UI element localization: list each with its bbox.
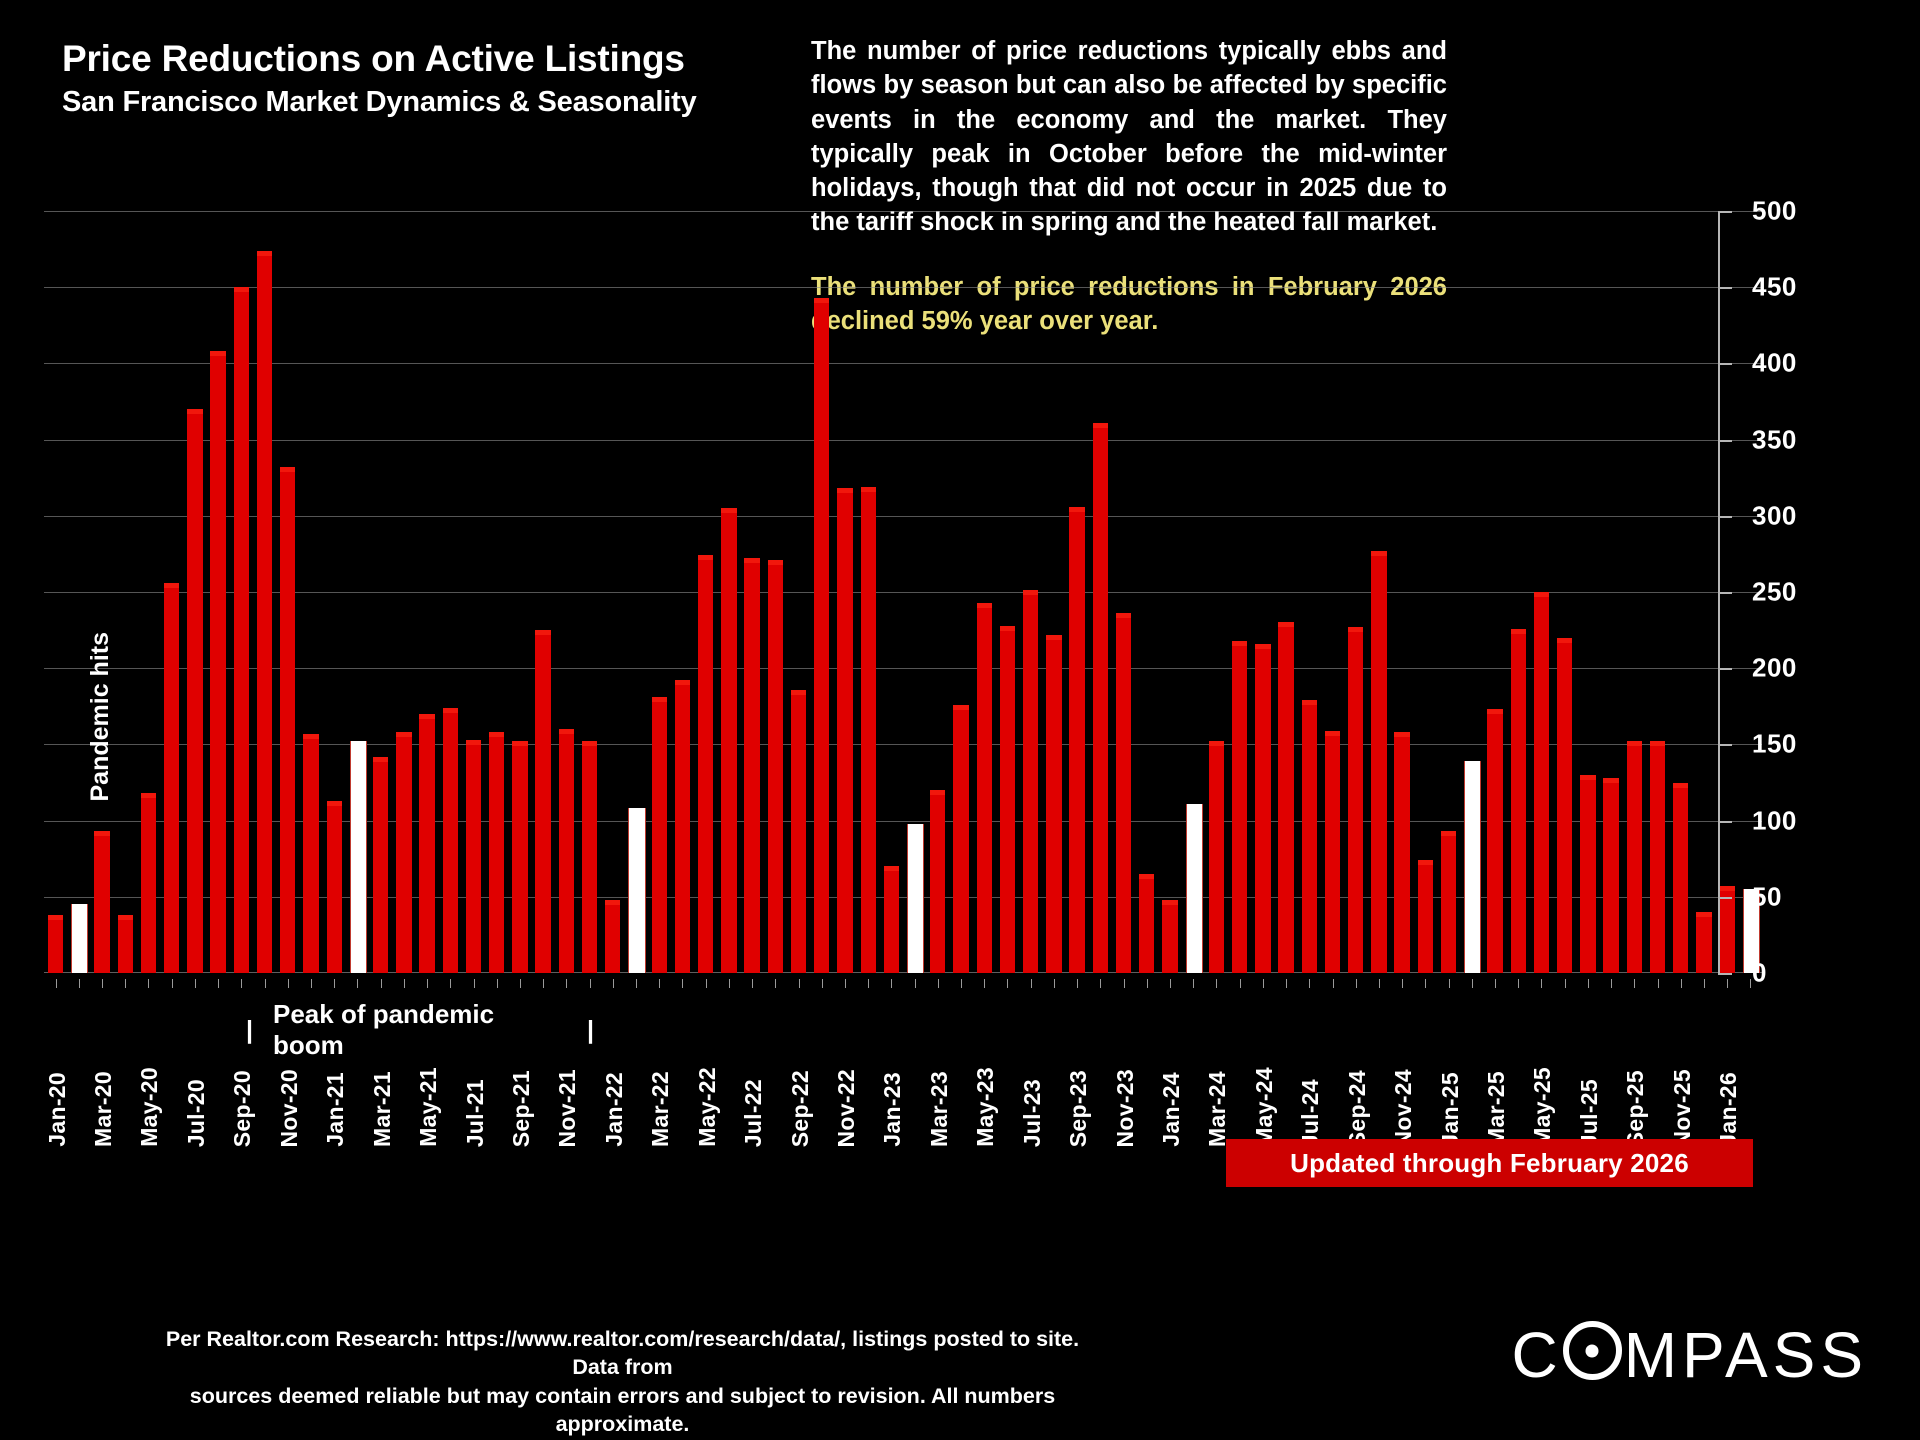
bar-may-24: [1255, 644, 1270, 973]
x-axis-tick-label: May-23: [972, 1067, 999, 1147]
y-axis-tick: [1718, 592, 1732, 594]
updated-through-text: Updated through February 2026: [1290, 1148, 1689, 1179]
bar-cap: [1511, 629, 1526, 634]
x-axis-tick: [1077, 979, 1078, 988]
bar-jun-23: [1000, 626, 1015, 973]
x-axis-tick: [682, 979, 683, 988]
y-axis-tick-label: 150: [1752, 729, 1797, 760]
bar-cap: [768, 560, 783, 565]
bar-nov-22: [837, 488, 852, 973]
bar-dec-23: [1139, 874, 1154, 973]
bar-cap: [164, 583, 179, 588]
x-axis-tick-label: Mar-25: [1483, 1071, 1510, 1147]
bar-cap: [466, 740, 481, 745]
bar-oct-23: [1093, 423, 1108, 973]
x-axis-tick: [1634, 979, 1635, 988]
x-axis-tick: [125, 979, 126, 988]
bar-cap: [559, 729, 574, 734]
bar-jul-22: [744, 558, 759, 973]
bar-cap: [837, 488, 852, 493]
bar-dec-22: [861, 487, 876, 973]
bar-may-21: [419, 714, 434, 973]
bar-cap: [94, 831, 109, 836]
bar-apr-21: [396, 732, 411, 973]
x-axis-tick: [172, 979, 173, 988]
bar-cap: [1441, 831, 1456, 836]
x-axis-tick: [543, 979, 544, 988]
bar-apr-24: [1232, 641, 1247, 973]
x-axis-tick: [1100, 979, 1101, 988]
bar-feb-23: [907, 824, 924, 973]
bar-cap: [118, 915, 133, 920]
bar-cap: [1696, 912, 1711, 917]
x-axis-tick-label: Nov-21: [554, 1069, 581, 1148]
x-axis-tick-label: Jan-24: [1158, 1072, 1185, 1147]
x-axis-tick-label: May-25: [1529, 1067, 1556, 1147]
x-axis-tick: [752, 979, 753, 988]
bar-sep-20: [234, 287, 249, 973]
x-axis-tick: [218, 979, 219, 988]
bar-aug-25: [1603, 778, 1618, 973]
bar-cap: [1302, 700, 1317, 705]
bar-cap: [977, 603, 992, 608]
bar-cap: [1348, 627, 1363, 632]
y-axis-tick-label: 450: [1752, 272, 1797, 303]
x-axis-tick: [1472, 979, 1473, 988]
x-axis-tick-label: Jan-21: [322, 1072, 349, 1147]
bar-jan-23: [884, 866, 899, 973]
peak-of-pandemic-boom-banner: | Peak of pandemic boom |: [246, 1006, 594, 1054]
x-axis-tick: [520, 979, 521, 988]
page-subtitle: San Francisco Market Dynamics & Seasonal…: [62, 86, 697, 119]
bar-jan-20: [48, 915, 63, 973]
bar-jul-23: [1023, 590, 1038, 973]
bar-cap: [1580, 775, 1595, 780]
bar-cap: [1000, 626, 1015, 631]
x-axis-tick: [775, 979, 776, 988]
bar-feb-20: [71, 904, 88, 973]
bar-jan-26: [1720, 886, 1735, 973]
bar-nov-23: [1116, 613, 1131, 973]
x-axis-tick-label: Sep-22: [787, 1070, 814, 1147]
commentary-paragraph: The number of price reductions typically…: [811, 34, 1447, 240]
bar-aug-24: [1325, 731, 1340, 973]
x-axis-tick: [1309, 979, 1310, 988]
x-axis-tick-label: May-22: [694, 1067, 721, 1147]
x-axis-tick-label: Jul-23: [1019, 1079, 1046, 1147]
bar-cap: [1394, 732, 1409, 737]
x-axis-tick: [1402, 979, 1403, 988]
y-axis-tick-label: 100: [1752, 805, 1797, 836]
y-axis-tick: [1718, 973, 1732, 975]
x-axis-tick: [1170, 979, 1171, 988]
bar-dec-21: [582, 741, 597, 973]
bar-cap: [141, 793, 156, 798]
x-axis-tick: [1333, 979, 1334, 988]
x-axis-tick-label: Mar-20: [90, 1071, 117, 1147]
x-axis-tick: [1750, 979, 1751, 988]
bar-cap: [861, 487, 876, 492]
x-axis-tick-label: Nov-22: [833, 1069, 860, 1148]
bar-cap: [1371, 551, 1386, 556]
bar-cap: [303, 734, 318, 739]
x-axis-tick: [961, 979, 962, 988]
x-axis-tick: [1565, 979, 1566, 988]
bar-cap: [884, 866, 899, 871]
x-axis-tick-label: Sep-23: [1065, 1070, 1092, 1147]
x-axis-tick-label: Jan-25: [1437, 1072, 1464, 1147]
y-axis-tick-label: 300: [1752, 500, 1797, 531]
y-axis-tick-label: 500: [1752, 196, 1797, 227]
bar-cap: [605, 900, 620, 905]
x-axis-tick: [822, 979, 823, 988]
bar-oct-25: [1650, 741, 1665, 973]
y-axis-tick-label: 400: [1752, 348, 1797, 379]
peak-banner-text: Peak of pandemic boom: [273, 999, 567, 1061]
bar-cap: [1209, 741, 1224, 746]
x-axis-tick: [1147, 979, 1148, 988]
x-axis-tick-label: Mar-22: [647, 1071, 674, 1147]
y-axis-tick-label: 50: [1752, 881, 1782, 912]
x-axis-tick: [195, 979, 196, 988]
y-axis-tick: [1718, 287, 1732, 289]
x-axis-tick: [1054, 979, 1055, 988]
bar-cap: [419, 714, 434, 719]
x-axis-tick: [1240, 979, 1241, 988]
bar-nov-25: [1673, 783, 1688, 974]
bar-cap: [675, 680, 690, 685]
y-axis-tick: [1718, 516, 1732, 518]
x-axis-tick: [241, 979, 242, 988]
bar-aug-22: [768, 560, 783, 973]
y-axis-tick: [1718, 744, 1732, 746]
bar-apr-22: [675, 680, 690, 973]
bar-cap: [1069, 507, 1084, 512]
bar-cap: [1023, 590, 1038, 595]
x-axis-tick: [706, 979, 707, 988]
x-axis-tick: [566, 979, 567, 988]
x-axis-tick: [1286, 979, 1287, 988]
x-axis-tick-label: Nov-25: [1669, 1069, 1696, 1148]
peak-banner-pipe-left: |: [246, 1016, 253, 1045]
y-axis-tick: [1718, 211, 1732, 213]
peak-banner-pipe-right: |: [587, 1016, 594, 1045]
y-axis-tick: [1718, 821, 1732, 823]
y-axis-tick: [1718, 440, 1732, 442]
footer-line-2: sources deemed reliable but may contain …: [140, 1382, 1105, 1439]
x-axis-tick-label: Mar-24: [1204, 1071, 1231, 1147]
x-axis-tick: [868, 979, 869, 988]
x-axis-tick: [450, 979, 451, 988]
bar-cap: [373, 757, 388, 762]
bar-cap: [1673, 783, 1688, 788]
compass-logo: CMPASS: [1511, 1318, 1868, 1392]
bar-cap: [1255, 644, 1270, 649]
x-axis-tick: [659, 979, 660, 988]
bar-dec-24: [1418, 860, 1433, 973]
bar-nov-21: [559, 729, 574, 973]
x-axis-tick: [56, 979, 57, 988]
x-axis-tick: [404, 979, 405, 988]
bar-cap: [1278, 622, 1293, 627]
bar-jul-25: [1580, 775, 1595, 973]
bar-cap: [1046, 635, 1061, 640]
bar-feb-21: [350, 741, 367, 973]
x-axis-tick: [1031, 979, 1032, 988]
bar-jul-24: [1302, 700, 1317, 973]
bar-cap: [1557, 638, 1572, 643]
x-axis-tick: [613, 979, 614, 988]
bar-cap: [1116, 613, 1131, 618]
bar-cap: [234, 287, 249, 292]
footer-line-1: Per Realtor.com Research: https://www.re…: [140, 1325, 1105, 1382]
x-axis-tick: [1588, 979, 1589, 988]
x-axis-tick: [1681, 979, 1682, 988]
x-axis-tick-label: Jan-20: [44, 1072, 71, 1147]
bar-cap: [652, 697, 667, 702]
bar-cap: [744, 558, 759, 563]
bar-oct-21: [535, 630, 550, 973]
bar-cap: [1325, 731, 1340, 736]
compass-ring-icon: [1563, 1321, 1622, 1380]
bar-cap: [1418, 860, 1433, 865]
bar-cap: [1232, 641, 1247, 646]
x-axis-tick-label: Mar-23: [926, 1071, 953, 1147]
bar-sep-25: [1627, 741, 1642, 973]
x-axis-tick-label: Jan-23: [879, 1072, 906, 1147]
x-axis-tick: [636, 979, 637, 988]
bar-jun-24: [1278, 622, 1293, 973]
bar-may-25: [1534, 592, 1549, 973]
bar-may-20: [141, 793, 156, 973]
bar-cap: [1534, 592, 1549, 597]
x-axis-tick: [1704, 979, 1705, 988]
y-axis-tick-label: 250: [1752, 577, 1797, 608]
bar-sep-22: [791, 690, 806, 973]
x-axis-tick: [915, 979, 916, 988]
bar-cap: [1720, 886, 1735, 891]
bar-cap: [1162, 900, 1177, 905]
x-axis-tick: [799, 979, 800, 988]
pandemic-hits-label: Pandemic hits: [86, 632, 115, 802]
bar-jan-22: [605, 900, 620, 973]
bar-cap: [210, 351, 225, 356]
x-axis-tick: [79, 979, 80, 988]
x-axis-tick: [474, 979, 475, 988]
bar-apr-23: [953, 705, 968, 973]
x-axis-tick: [729, 979, 730, 988]
bar-oct-24: [1371, 551, 1386, 973]
x-axis-tick-label: Nov-24: [1390, 1069, 1417, 1148]
bar-sep-23: [1069, 507, 1084, 973]
bar-cap: [187, 409, 202, 414]
bar-cap: [257, 251, 272, 256]
bar-apr-20: [118, 915, 133, 973]
bar-jun-25: [1557, 638, 1572, 973]
x-axis-tick-label: Sep-20: [229, 1070, 256, 1147]
bar-oct-22: [814, 298, 829, 973]
x-axis-tick-label: Jul-20: [183, 1079, 210, 1147]
title-block: Price Reductions on Active Listings San …: [62, 38, 697, 119]
x-axis-tick-label: Jul-24: [1297, 1079, 1324, 1147]
x-axis-tick: [1216, 979, 1217, 988]
y-axis-tick-label: 200: [1752, 653, 1797, 684]
x-axis-tick-label: Nov-20: [276, 1069, 303, 1148]
x-axis-tick: [1495, 979, 1496, 988]
y-axis-tick: [1718, 668, 1732, 670]
bar-cap: [535, 630, 550, 635]
x-axis-tick-label: May-21: [415, 1067, 442, 1147]
x-axis-tick: [1263, 979, 1264, 988]
x-axis-tick: [1541, 979, 1542, 988]
x-axis-tick: [148, 979, 149, 988]
bar-jan-25: [1441, 831, 1456, 973]
bar-may-23: [977, 603, 992, 973]
bar-apr-25: [1511, 629, 1526, 973]
x-axis-tick-label: May-20: [136, 1067, 163, 1147]
bar-cap: [814, 298, 829, 303]
x-axis-tick-label: Sep-24: [1344, 1070, 1371, 1147]
bar-cap: [1603, 778, 1618, 783]
x-axis-tick: [311, 979, 312, 988]
bar-cap: [280, 467, 295, 472]
x-axis-tick-label: Sep-25: [1622, 1070, 1649, 1147]
bar-cap: [698, 555, 713, 560]
x-axis-tick: [1658, 979, 1659, 988]
bar-series: [44, 211, 1762, 973]
x-axis-tick: [845, 979, 846, 988]
bar-feb-25: [1464, 761, 1481, 973]
bar-jul-20: [187, 409, 202, 973]
x-axis-tick: [1124, 979, 1125, 988]
x-axis-tick: [102, 979, 103, 988]
x-axis-tick-label: Jan-26: [1715, 1072, 1742, 1147]
bar-cap: [1487, 709, 1502, 714]
bar-nov-20: [280, 467, 295, 973]
x-axis-tick: [1379, 979, 1380, 988]
x-axis-tick-label: Jul-22: [740, 1079, 767, 1147]
x-axis-tick: [1611, 979, 1612, 988]
x-axis-tick-label: Nov-23: [1112, 1069, 1139, 1148]
x-axis-tick: [334, 979, 335, 988]
x-axis-tick: [1727, 979, 1728, 988]
x-axis-tick: [1356, 979, 1357, 988]
bar-jan-21: [327, 801, 342, 973]
bar-cap: [327, 801, 342, 806]
x-axis-tick: [984, 979, 985, 988]
bar-cap: [930, 790, 945, 795]
x-axis-tick: [288, 979, 289, 988]
x-axis-tick-label: Jul-21: [462, 1079, 489, 1147]
bar-jul-21: [466, 740, 481, 973]
x-axis-tick-label: Jul-25: [1576, 1079, 1603, 1147]
bar-oct-20: [257, 251, 272, 973]
bar-cap: [48, 915, 63, 920]
bar-aug-21: [489, 732, 504, 973]
bar-cap: [1627, 741, 1642, 746]
compass-logo-text: CMPASS: [1511, 1318, 1868, 1392]
bar-feb-22: [628, 808, 645, 973]
bar-nov-24: [1394, 732, 1409, 973]
bar-feb-24: [1186, 804, 1203, 973]
x-axis-tick: [427, 979, 428, 988]
x-axis-tick-label: May-24: [1251, 1067, 1278, 1147]
bar-cap: [1139, 874, 1154, 879]
x-axis-tick: [497, 979, 498, 988]
x-axis-tick: [590, 979, 591, 988]
bar-mar-21: [373, 757, 388, 973]
bar-jun-20: [164, 583, 179, 973]
bar-dec-20: [303, 734, 318, 973]
bar-aug-20: [210, 351, 225, 973]
bar-sep-21: [512, 741, 527, 973]
chart-plot-area: [44, 211, 1762, 973]
y-axis-tick: [1718, 897, 1732, 899]
bar-jun-21: [443, 708, 458, 973]
bar-dec-25: [1696, 912, 1711, 973]
x-axis-tick: [1449, 979, 1450, 988]
bar-mar-20: [94, 831, 109, 973]
x-axis-tick: [265, 979, 266, 988]
bar-jun-22: [721, 508, 736, 973]
x-axis-tick: [381, 979, 382, 988]
bar-cap: [396, 732, 411, 737]
bar-cap: [953, 705, 968, 710]
bar-mar-25: [1487, 709, 1502, 973]
x-axis-tick: [1193, 979, 1194, 988]
bar-mar-24: [1209, 741, 1224, 973]
footer-source-note: Per Realtor.com Research: https://www.re…: [140, 1325, 1105, 1439]
bar-may-22: [698, 555, 713, 973]
x-axis-tick-label: Mar-21: [369, 1071, 396, 1147]
bar-jan-24: [1162, 900, 1177, 973]
bar-cap: [489, 732, 504, 737]
x-axis-tick: [1518, 979, 1519, 988]
x-axis-tick-label: Jan-22: [601, 1072, 628, 1147]
bar-cap: [791, 690, 806, 695]
x-axis-tick: [938, 979, 939, 988]
bar-cap: [582, 741, 597, 746]
x-axis-tick: [891, 979, 892, 988]
y-axis-tick-label: 350: [1752, 424, 1797, 455]
x-axis-tick-label: Sep-21: [508, 1070, 535, 1147]
bar-aug-23: [1046, 635, 1061, 973]
bar-cap: [443, 708, 458, 713]
x-axis-tick: [1425, 979, 1426, 988]
updated-through-banner: Updated through February 2026: [1226, 1139, 1753, 1187]
page-title: Price Reductions on Active Listings: [62, 38, 697, 81]
bar-cap: [1650, 741, 1665, 746]
y-axis-tick: [1718, 363, 1732, 365]
bar-mar-22: [652, 697, 667, 973]
x-axis-tick: [357, 979, 358, 988]
bar-cap: [721, 508, 736, 513]
bar-cap: [1093, 423, 1108, 428]
bar-cap: [512, 741, 527, 746]
bar-mar-23: [930, 790, 945, 973]
x-axis-tick: [1007, 979, 1008, 988]
bar-sep-24: [1348, 627, 1363, 973]
